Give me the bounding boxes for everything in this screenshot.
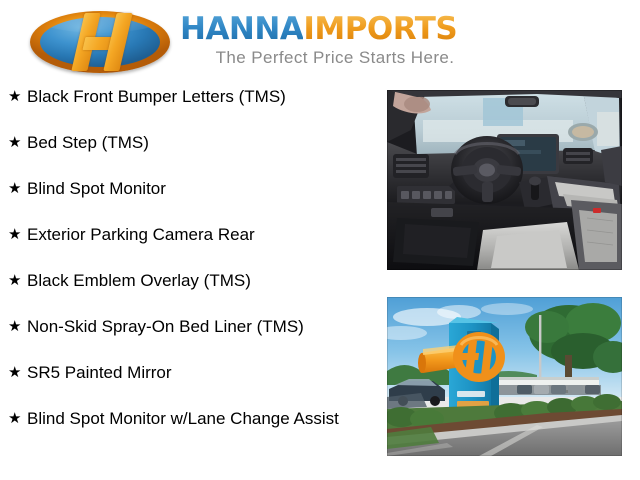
feature-label: Black Emblem Overlay (TMS) xyxy=(27,270,378,292)
list-item: ★ Non-Skid Spray-On Bed Liner (TMS) xyxy=(0,316,378,338)
list-item: ★ Blind Spot Monitor xyxy=(0,178,378,200)
brand-name-hanna: HANNA xyxy=(180,11,303,47)
star-icon: ★ xyxy=(8,408,27,430)
brand-name-imports: IMPORTS xyxy=(303,11,457,47)
star-icon: ★ xyxy=(8,224,27,246)
feature-label: Blind Spot Monitor xyxy=(27,178,378,200)
star-icon: ★ xyxy=(8,362,27,384)
star-icon: ★ xyxy=(8,178,27,200)
feature-label: SR5 Painted Mirror xyxy=(27,362,378,384)
list-item: ★ Exterior Parking Camera Rear xyxy=(0,224,378,246)
list-item: ★ Black Emblem Overlay (TMS) xyxy=(0,270,378,292)
vehicle-interior-photo xyxy=(387,90,622,270)
feature-list: ★ Black Front Bumper Letters (TMS) ★ Bed… xyxy=(0,86,378,454)
feature-label: Bed Step (TMS) xyxy=(27,132,378,154)
brand-wordmark: HANNAIMPORTS xyxy=(180,12,510,46)
feature-label: Exterior Parking Camera Rear xyxy=(27,224,378,246)
star-icon: ★ xyxy=(8,132,27,154)
dealership-sign-illustration xyxy=(387,297,622,456)
star-icon: ★ xyxy=(8,270,27,292)
vehicle-feature-sheet: HANNAIMPORTS The Perfect Price Starts He… xyxy=(0,0,640,480)
star-icon: ★ xyxy=(8,86,27,108)
feature-label: Non-Skid Spray-On Bed Liner (TMS) xyxy=(27,316,378,338)
list-item: ★ SR5 Painted Mirror xyxy=(0,362,378,384)
dealership-sign-photo xyxy=(387,297,622,456)
feature-label: Black Front Bumper Letters (TMS) xyxy=(27,86,378,108)
feature-label: Blind Spot Monitor w/Lane Change Assist xyxy=(27,408,378,430)
list-item: ★ Bed Step (TMS) xyxy=(0,132,378,154)
list-item: ★ Black Front Bumper Letters (TMS) xyxy=(0,86,378,108)
star-icon: ★ xyxy=(8,316,27,338)
list-item: ★ Blind Spot Monitor w/Lane Change Assis… xyxy=(0,408,378,430)
brand-tagline: The Perfect Price Starts Here. xyxy=(180,48,490,68)
brand-header: HANNAIMPORTS The Perfect Price Starts He… xyxy=(0,0,640,84)
hanna-oval-h-logo-icon xyxy=(30,11,170,73)
brand-wordmark-block: HANNAIMPORTS The Perfect Price Starts He… xyxy=(180,12,510,74)
vehicle-interior-illustration xyxy=(387,90,622,270)
